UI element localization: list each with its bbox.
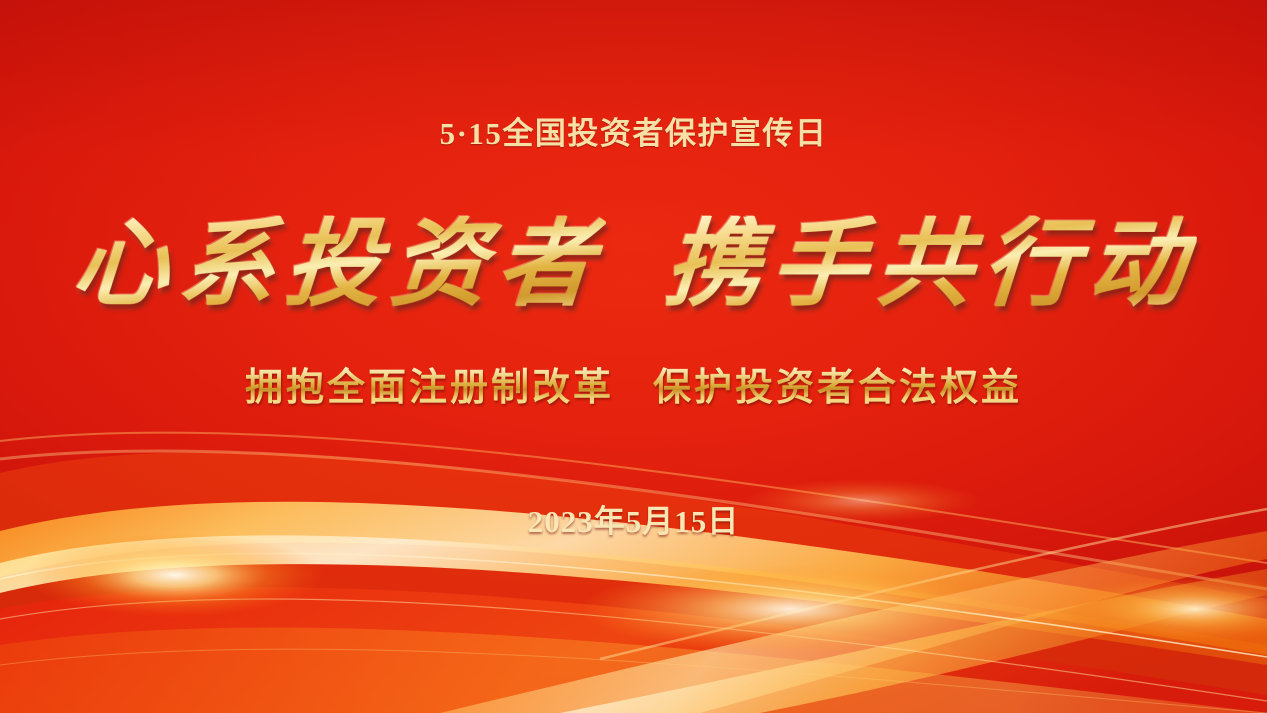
campaign-eyebrow-text: 5·15全国投资者保护宣传日: [0, 108, 1267, 153]
event-date: 2023年5月15日: [0, 496, 1267, 541]
subtitle-right-phrase: 保护投资者合法权益: [653, 365, 1022, 409]
poster-canvas: 5·15全国投资者保护宣传日 心系投资者 携手共行动 拥抱全面注册制改革 保护投…: [0, 0, 1267, 713]
subtitle-line: 拥抱全面注册制改革 保护投资者合法权益: [0, 356, 1267, 411]
headline-left-phrase: 心系投资者: [69, 216, 606, 312]
headline-right-phrase: 携手共行动: [661, 216, 1198, 312]
subtitle-left-phrase: 拥抱全面注册制改革: [245, 365, 614, 409]
headline-calligraphy: 心系投资者 携手共行动: [0, 196, 1267, 331]
